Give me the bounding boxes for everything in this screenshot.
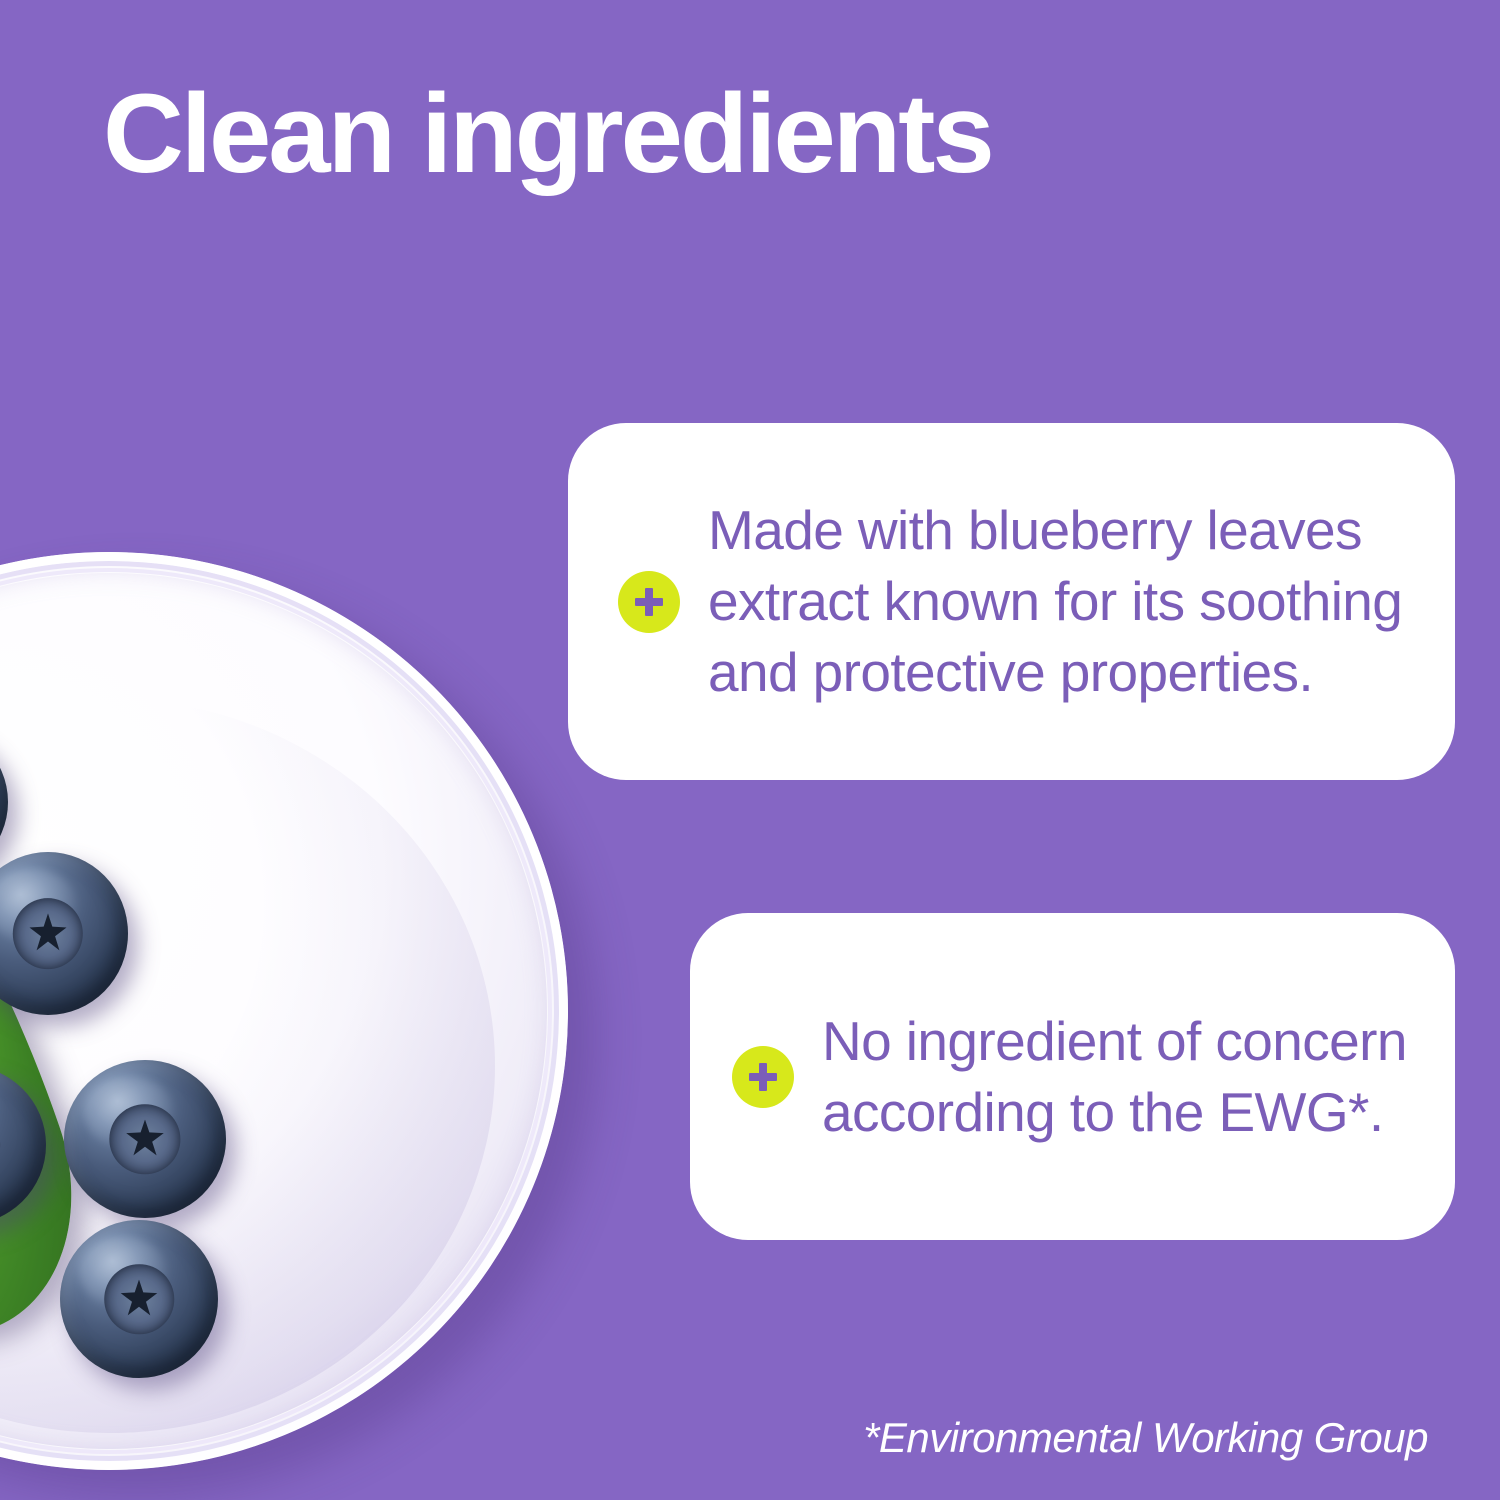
- dish-rim-inner: [0, 568, 552, 1454]
- page-title: Clean ingredients: [103, 78, 992, 190]
- benefit-card-ingredient: Made with blueberry leaves extract known…: [568, 423, 1455, 780]
- footnote-text: *Environmental Working Group: [863, 1414, 1428, 1462]
- benefit-card-text: No ingredient of concern according to th…: [822, 1006, 1415, 1148]
- benefit-card-text: Made with blueberry leaves extract known…: [708, 495, 1411, 708]
- benefit-card-ewg: No ingredient of concern according to th…: [690, 913, 1455, 1240]
- infographic-canvas: Clean ingredients: [0, 0, 1500, 1500]
- plus-icon: [618, 571, 680, 633]
- petri-dish-photo: [0, 552, 568, 1470]
- plus-icon: [732, 1046, 794, 1108]
